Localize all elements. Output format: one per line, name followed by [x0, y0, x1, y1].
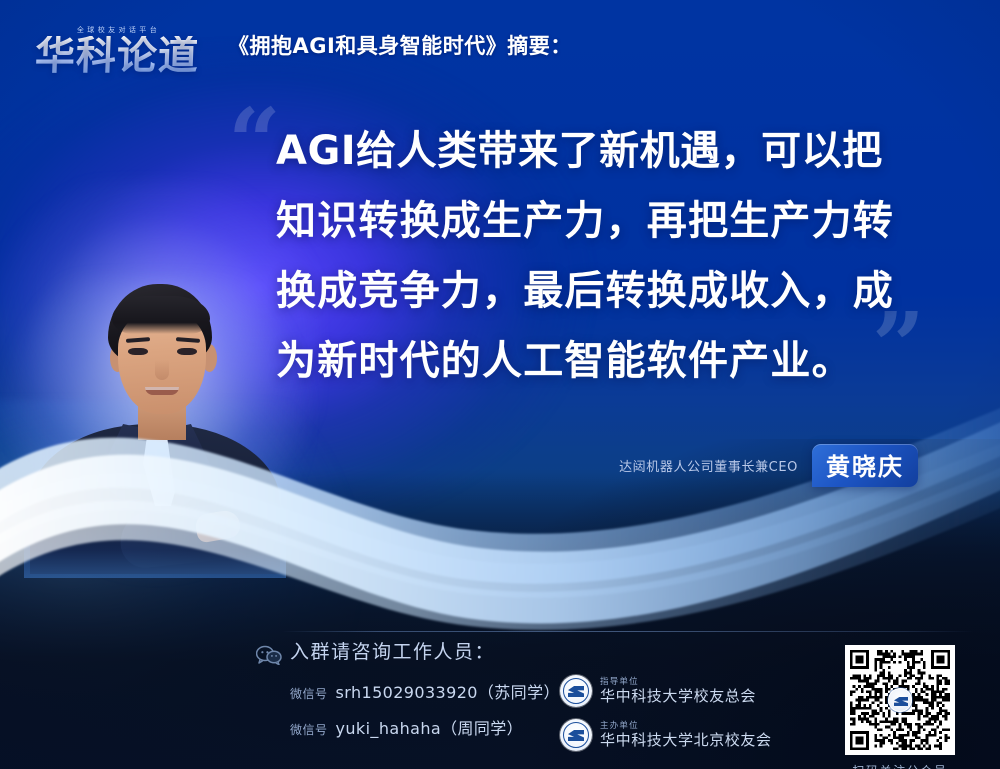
contact-value: srh15029033920（苏同学） [336, 679, 560, 703]
organization-name: 华中科技大学校友总会 [600, 687, 756, 706]
portrait-eye-left [128, 348, 148, 355]
portrait-eye-right [177, 348, 197, 355]
portrait-bottom-fade [24, 508, 286, 578]
qr-code[interactable] [845, 645, 955, 755]
organization-row: 指导单位 华中科技大学校友总会 [560, 673, 772, 709]
brand-logo: 全球校友对话平台 华科论道 [24, 14, 210, 76]
contact-value: yuki_hahaha（周同学） [336, 715, 524, 739]
brand-wordmark: 华科论道 [34, 36, 199, 76]
speaker-role: 达闼机器人公司董事长兼CEO [619, 456, 798, 475]
poster-footer: 入群请咨询工作人员： 微信号 srh15029033920（苏同学） 微信号 y… [0, 637, 1000, 769]
speaker-portrait [24, 268, 286, 568]
speaker-attribution: 达闼机器人公司董事长兼CEO 黄晓庆 [619, 444, 918, 487]
portrait-nose [155, 360, 169, 380]
quote-open-mark: “ [228, 96, 281, 188]
qr-section: 扫码关注公众号 [842, 645, 958, 769]
contact-label: 微信号 [290, 721, 328, 738]
organization-kind: 指导单位 [600, 676, 756, 687]
university-seal-icon [560, 719, 592, 751]
organization-name: 华中科技大学北京校友会 [600, 731, 772, 750]
poster-header: 全球校友对话平台 华科论道 《拥抱AGI和具身智能时代》摘要： [0, 0, 1000, 90]
contact-label: 微信号 [290, 685, 328, 702]
organization-list: 指导单位 华中科技大学校友总会 主办单位 华中科技大学北京校友会 [560, 673, 772, 753]
quote-text-block: AGI给人类带来了新机遇，可以把 知识转换成生产力，再把生产力转 换成竞争力，最… [276, 116, 942, 396]
quote-line: 为新时代的人工智能软件产业。 [276, 326, 942, 396]
contact-heading: 入群请咨询工作人员： [290, 637, 495, 664]
contact-row: 微信号 yuki_hahaha（周同学） [290, 715, 523, 739]
speaker-name-badge: 黄晓庆 [812, 444, 918, 487]
organization-row: 主办单位 华中科技大学北京校友会 [560, 717, 772, 753]
university-seal-icon [560, 675, 592, 707]
portrait-fringe [112, 296, 210, 334]
quote-line: 知识转换成生产力，再把生产力转 [276, 186, 942, 256]
page-title: 《拥抱AGI和具身智能时代》摘要： [228, 30, 572, 60]
quote-line: 换成竞争力，最后转换成收入，成 [276, 256, 942, 326]
contact-row: 微信号 srh15029033920（苏同学） [290, 679, 560, 703]
wechat-icon [256, 645, 282, 665]
portrait-mouth [145, 387, 179, 395]
footer-separator [282, 631, 974, 632]
qr-center-logo-icon [888, 688, 912, 712]
qr-caption: 扫码关注公众号 [842, 762, 958, 769]
poster-canvas: 全球校友对话平台 华科论道 《拥抱AGI和具身智能时代》摘要： “ ” AGI给… [0, 0, 1000, 769]
quote-line: AGI给人类带来了新机遇，可以把 [276, 116, 942, 186]
organization-kind: 主办单位 [600, 720, 772, 731]
